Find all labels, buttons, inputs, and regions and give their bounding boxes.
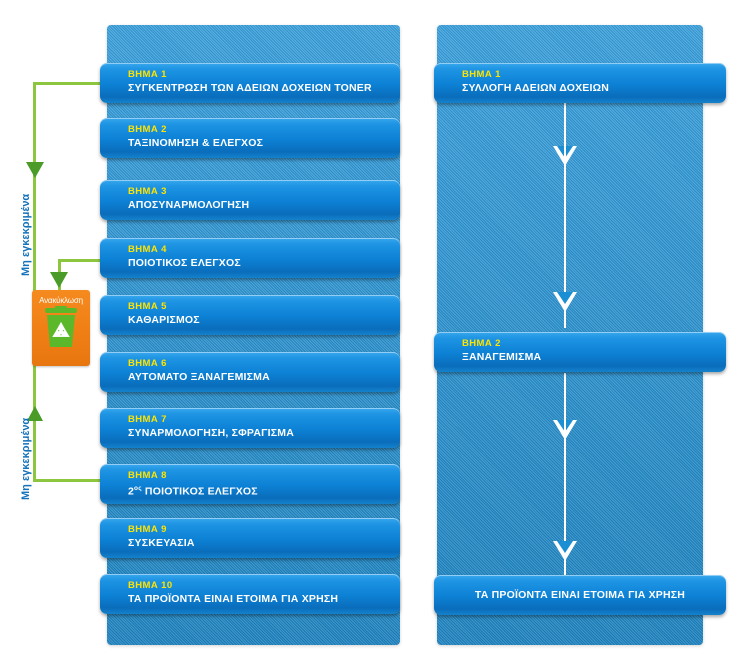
left-step-9-number: ΒΗΜΑ 9 bbox=[128, 524, 390, 536]
left-step-9-title: ΣΥΣΚΕΥΑΣΙΑ bbox=[128, 536, 390, 550]
left-step-2-number: ΒΗΜΑ 2 bbox=[128, 124, 390, 136]
left-step-1-number: ΒΗΜΑ 1 bbox=[128, 69, 390, 81]
green-line-step4-horizontal bbox=[58, 259, 103, 262]
left-step-3[interactable]: ΒΗΜΑ 3 ΑΠΟΣΥΝΑΡΜΟΛΟΓΗΣΗ bbox=[100, 180, 400, 220]
left-step-3-number: ΒΗΜΑ 3 bbox=[128, 186, 390, 198]
left-step-6[interactable]: ΒΗΜΑ 6 ΑΥΤΟΜΑΤΟ ΞΑΝΑΓΕΜΙΣΜΑ bbox=[100, 352, 400, 392]
left-step-2-title: ΤΑΞΙΝΟΜΗΣΗ & ΕΛΕΓΧΟΣ bbox=[128, 136, 390, 150]
right-step-2[interactable]: ΒΗΜΑ 2 ΞΑΝΑΓΕΜΙΣΜΑ bbox=[434, 332, 726, 372]
left-step-7[interactable]: ΒΗΜΑ 7 ΣΥΝΑΡΜΟΛΟΓΗΣΗ, ΣΦΡΑΓΙΣΜΑ bbox=[100, 408, 400, 448]
green-line-step1-horizontal bbox=[33, 82, 103, 85]
left-step-4-title: ΠΟΙΟΤΙΚΟΣ ΕΛΕΓΧΟΣ bbox=[128, 256, 390, 270]
left-step-4[interactable]: ΒΗΜΑ 4 ΠΟΙΟΤΙΚΟΣ ΕΛΕΓΧΟΣ bbox=[100, 238, 400, 278]
left-step-8-number: ΒΗΜΑ 8 bbox=[128, 470, 390, 482]
green-line-left-vertical-top bbox=[33, 82, 36, 292]
recycling-badge-label: Ανακύκλωση bbox=[32, 290, 90, 306]
green-arrowhead-to-badge-1 bbox=[26, 162, 44, 178]
left-step-1[interactable]: ΒΗΜΑ 1 ΣΥΓΚΕΝΤΡΩΣΗ ΤΩΝ ΑΔΕΙΩΝ ΔΟΧΕΙΩΝ TO… bbox=[100, 63, 400, 103]
green-line-step8-horizontal bbox=[33, 479, 103, 482]
right-step-2-title: ΞΑΝΑΓΕΜΙΣΜΑ bbox=[462, 350, 716, 364]
left-step-5-number: ΒΗΜΑ 5 bbox=[128, 301, 390, 313]
left-step-1-title: ΣΥΓΚΕΝΤΡΩΣΗ ΤΩΝ ΑΔΕΙΩΝ ΔΟΧΕΙΩΝ TONER bbox=[128, 81, 390, 95]
right-step-2-number: ΒΗΜΑ 2 bbox=[462, 338, 716, 350]
left-step-7-number: ΒΗΜΑ 7 bbox=[128, 414, 390, 426]
left-step-4-number: ΒΗΜΑ 4 bbox=[128, 244, 390, 256]
left-step-6-title: ΑΥΤΟΜΑΤΟ ΞΑΝΑΓΕΜΙΣΜΑ bbox=[128, 370, 390, 384]
recycling-badge[interactable]: Ανακύκλωση bbox=[32, 290, 90, 366]
green-line-left-vertical-bottom bbox=[33, 365, 36, 482]
green-arrowhead-to-badge-2 bbox=[50, 272, 68, 288]
left-step-10[interactable]: ΒΗΜΑ 10 ΤΑ ΠΡΟΪΟΝΤΑ ΕΙΝΑΙ ΕΤΟΙΜΑ ΓΙΑ ΧΡΗ… bbox=[100, 574, 400, 614]
left-step-5-title: ΚΑΘΑΡΙΣΜΟΣ bbox=[128, 313, 390, 327]
left-step-8-title: 2ος ΠΟΙΟΤΙΚΟΣ ΕΛΕΓΧΟΣ bbox=[128, 482, 390, 499]
right-flow-arrowhead-2 bbox=[553, 292, 577, 312]
left-step-3-title: ΑΠΟΣΥΝΑΡΜΟΛΟΓΗΣΗ bbox=[128, 198, 390, 212]
left-step-7-title: ΣΥΝΑΡΜΟΛΟΓΗΣΗ, ΣΦΡΑΓΙΣΜΑ bbox=[128, 426, 390, 440]
left-step-10-number: ΒΗΜΑ 10 bbox=[128, 580, 390, 592]
left-step-10-title: ΤΑ ΠΡΟΪΟΝΤΑ ΕΙΝΑΙ ΕΤΟΙΜΑ ΓΙΑ ΧΡΗΣΗ bbox=[128, 592, 390, 606]
right-step-1[interactable]: ΒΗΜΑ 1 ΣΥΛΛΟΓΗ ΑΔΕΙΩΝ ΔΟΧΕΙΩΝ bbox=[434, 63, 726, 103]
left-step-6-number: ΒΗΜΑ 6 bbox=[128, 358, 390, 370]
left-step-5[interactable]: ΒΗΜΑ 5 ΚΑΘΑΡΙΣΜΟΣ bbox=[100, 295, 400, 335]
left-step-2[interactable]: ΒΗΜΑ 2 ΤΑΞΙΝΟΜΗΣΗ & ΕΛΕΓΧΟΣ bbox=[100, 118, 400, 158]
right-final-step[interactable]: ΤΑ ΠΡΟΪΟΝΤΑ ΕΙΝΑΙ ΕΤΟΙΜΑ ΓΙΑ ΧΡΗΣΗ bbox=[434, 575, 726, 615]
label-not-approved-bottom: Μη εγκεκριμένα bbox=[20, 418, 32, 500]
right-flow-arrowhead-4 bbox=[553, 541, 577, 561]
right-step-1-title: ΣΥΛΛΟΓΗ ΑΔΕΙΩΝ ΔΟΧΕΙΩΝ bbox=[462, 81, 716, 95]
right-step-1-number: ΒΗΜΑ 1 bbox=[462, 69, 716, 81]
left-step-9[interactable]: ΒΗΜΑ 9 ΣΥΣΚΕΥΑΣΙΑ bbox=[100, 518, 400, 558]
right-final-step-title: ΤΑ ΠΡΟΪΟΝΤΑ ΕΙΝΑΙ ΕΤΟΙΜΑ ΓΙΑ ΧΡΗΣΗ bbox=[475, 588, 685, 602]
left-step-8[interactable]: ΒΗΜΑ 8 2ος ΠΟΙΟΤΙΚΟΣ ΕΛΕΓΧΟΣ bbox=[100, 464, 400, 504]
label-not-approved-top: Μη εγκεκριμένα bbox=[20, 194, 32, 276]
recycle-bin-icon bbox=[41, 337, 81, 354]
